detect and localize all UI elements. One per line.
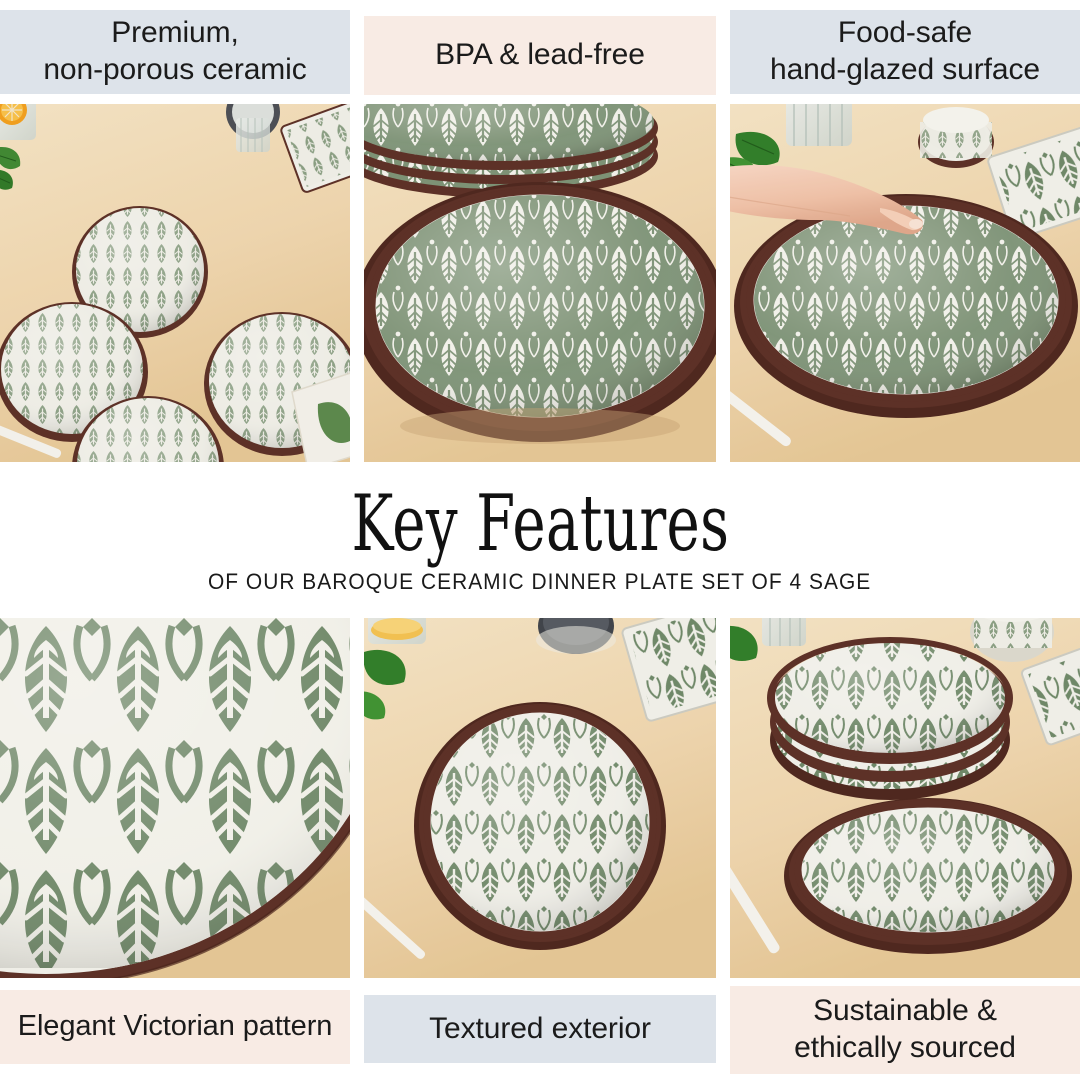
hero-section: Key Features OF OUR BAROQUE CERAMIC DINN… (0, 462, 1080, 618)
infographic-canvas: Premium, non-porous ceramic BPA & lead-f… (0, 0, 1080, 1080)
photo-stacked-plates-angled (364, 104, 716, 462)
page-title: Key Features (351, 485, 729, 563)
feature-label-premium-non-porous-ceramic: Premium, non-porous ceramic (0, 10, 350, 94)
photo-hand-holding-plate (730, 104, 1080, 462)
photo-four-plates-flatlay (0, 104, 350, 462)
feature-label-textured-exterior: Textured exterior (364, 995, 716, 1063)
feature-label-food-safe-hand-glazed-surface: Food-safe hand-glazed surface (730, 10, 1080, 94)
feature-label-bpa-lead-free: BPA & lead-free (364, 16, 716, 95)
feature-label-sustainable-ethically-sourced: Sustainable & ethically sourced (730, 986, 1080, 1074)
photo-single-plate-top-down (364, 618, 716, 978)
photo-pattern-macro-closeup (0, 618, 350, 978)
feature-label-elegant-victorian-pattern: Elegant Victorian pattern (0, 990, 350, 1064)
page-subtitle: OF OUR BAROQUE CERAMIC DINNER PLATE SET … (208, 569, 871, 595)
photo-plate-stack-with-single (730, 618, 1080, 978)
